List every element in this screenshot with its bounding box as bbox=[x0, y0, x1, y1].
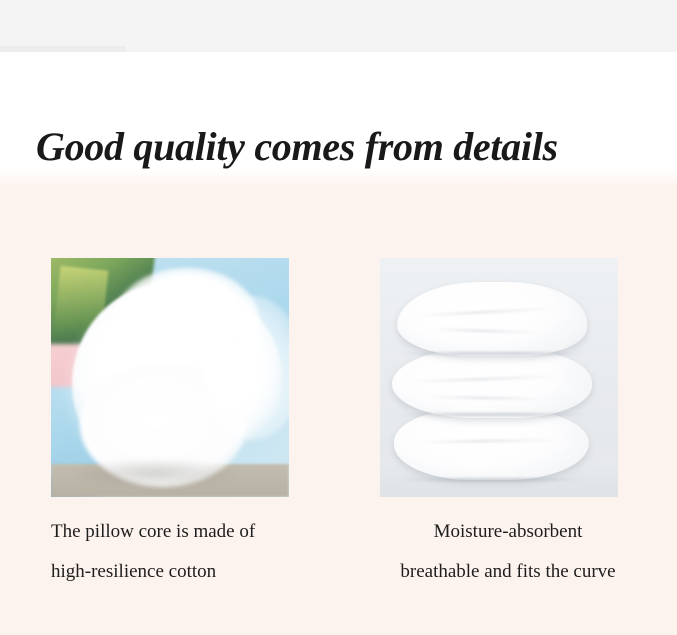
feature-grid: The pillow core is made of high-resilien… bbox=[0, 186, 677, 635]
caption-line: Moisture-absorbent bbox=[378, 512, 638, 552]
product-detail-page: Good quality comes from details bbox=[0, 0, 677, 635]
feature-caption-moisture: Moisture-absorbent breathable and fits t… bbox=[378, 512, 638, 592]
top-strip bbox=[0, 0, 677, 52]
caption-line: The pillow core is made of bbox=[51, 512, 351, 552]
stacked-pillows-photo bbox=[380, 258, 618, 497]
feature-image-frame bbox=[380, 258, 618, 497]
caption-line: breathable and fits the curve bbox=[378, 552, 638, 592]
fiber-fill-photo bbox=[51, 258, 289, 497]
header-fade bbox=[0, 170, 677, 186]
page-title: Good quality comes from details bbox=[36, 123, 656, 171]
feature-image-frame bbox=[51, 258, 289, 497]
feature-caption-pillow-core: The pillow core is made of high-resilien… bbox=[51, 512, 351, 592]
caption-line: high-resilience cotton bbox=[51, 552, 351, 592]
